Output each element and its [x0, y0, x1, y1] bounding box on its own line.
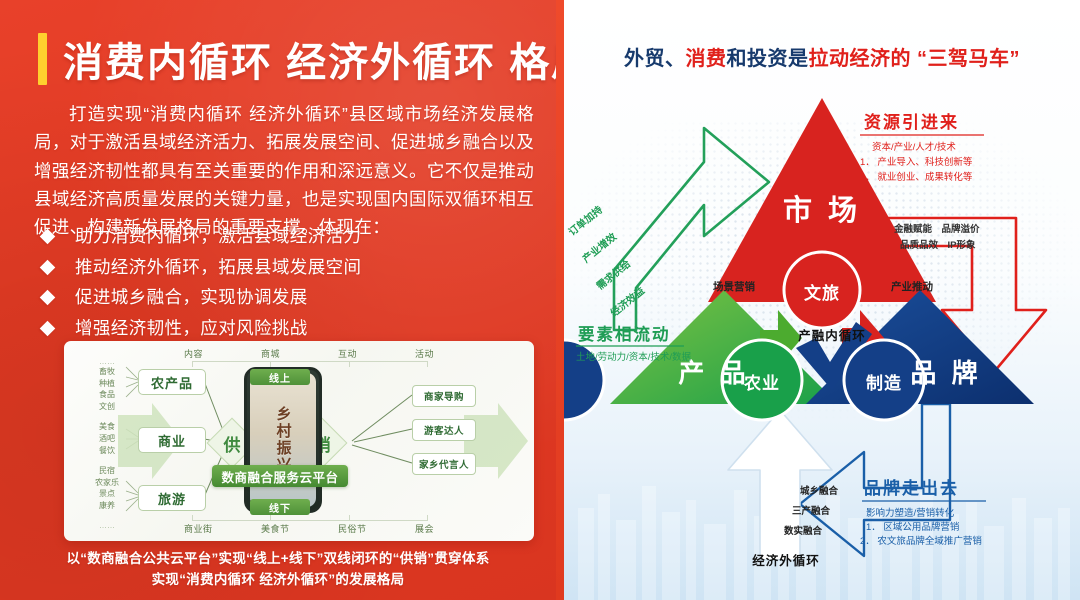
source-label: 种植 [88, 378, 126, 390]
diamond-bullet-icon [40, 320, 56, 336]
list-item: 增强经济韧性，应对风险挑战 [42, 320, 361, 338]
channel-label: 内容 [184, 347, 203, 360]
supply-label: 供 [224, 431, 241, 456]
brand-tag-3: 数实融合 [783, 525, 823, 537]
source-label: 美食 [88, 421, 126, 433]
channel-label: 美食节 [261, 522, 290, 535]
outer-cycle-arrow [728, 410, 832, 560]
resource-item-2: 2． 就业创业、成果转化等 [860, 171, 973, 183]
circle-label-agriculture: 农业 [743, 373, 780, 393]
diamond-bullet-icon [40, 259, 56, 275]
brand-block-subtitle: 影响力塑造/营销转化 [866, 507, 955, 519]
list-item: 推动经济外循环，拓展县域发展空间 [42, 259, 361, 277]
left-red-panel: 消费内循环 经济外循环 格局 打造实现“消费内循环 经济外循环”县区域市场经济发… [0, 0, 556, 600]
source-group-tourism: 民宿 农家乐 景点 康养 [88, 465, 126, 511]
outer-cycle-label: 经济外循环 [752, 553, 820, 568]
card-caption: 以“数商融合公共云平台”实现“线上+线下”双线闭环的“供销”贯穿体系 实现“消费… [0, 549, 556, 591]
triangle-label-brand: 品 牌 [910, 358, 981, 388]
caption-line-2: 实现“消费内循环 经济外循环”的发展格局 [0, 570, 556, 591]
channel-label: 活动 [415, 347, 434, 360]
right-diagram-panel: 外贸、消费和投资是拉动经济的 “三驾马车” [564, 0, 1080, 600]
source-label: 食品 [88, 389, 126, 401]
resource-block-subtitle: 资本/产业/人才/技术 [872, 141, 956, 153]
bullet-label: 增强经济韧性，应对风险挑战 [75, 320, 308, 338]
resource-tag-line-1: 金融赋能 品牌溢价 [893, 223, 980, 235]
online-channel-row: 内容 商城 互动 活动 [184, 347, 434, 360]
source-label: 农家乐 [88, 477, 126, 489]
triangle-label-market: 市 场 [783, 193, 861, 227]
brand-block-title: 品牌走出去 [864, 478, 959, 498]
three-horses-diagram: 市 场 产 品 品 牌 文旅 农业 制造 场景营销 产业推动 产融内循环 经济外… [564, 0, 1080, 600]
page-title: 消费内循环 经济外循环 格局 [38, 30, 556, 88]
channel-label: 商城 [261, 347, 280, 360]
output-box-hometown-ambassador: 家乡代言人 [412, 453, 476, 475]
resource-item-1: 1． 产业导入、科技创新等 [860, 156, 973, 168]
intro-paragraph: 打造实现“消费内循环 经济外循环”县区域市场经济发展格局，对于激活县域经济活力、… [34, 100, 534, 242]
bullet-label: 助力消费内循环，激活县域经济活力 [75, 228, 361, 246]
circle-label-manufacture: 制造 [866, 373, 902, 393]
bullet-label: 推动经济外循环，拓展县域发展空间 [75, 259, 361, 277]
brand-item-2: 2． 农文旅品牌全域推广营销 [860, 535, 982, 547]
resource-block-title: 资源引进来 [864, 112, 959, 132]
phone-slogan: 乡村振兴 [273, 406, 294, 474]
online-tag: 线上 [250, 369, 310, 385]
slide-root: 消费内循环 经济外循环 格局 打造实现“消费内循环 经济外循环”县区域市场经济发… [0, 0, 1080, 600]
resource-tag-line-2: 品质品效 IP形象 [900, 239, 976, 251]
brand-tag-2: 三产融合 [792, 505, 831, 517]
output-box-tourist-influencer: 游客达人 [412, 419, 476, 441]
heading-seg-2: 消费 [685, 48, 726, 70]
category-box-commerce: 商业 [138, 427, 206, 453]
source-label: 民宿 [88, 465, 126, 477]
offline-tag: 线下 [250, 499, 310, 515]
category-box-agriculture: 农产品 [138, 369, 206, 395]
edge-label-industry-drive: 产业推动 [891, 280, 933, 293]
brand-item-1: 1． 区域公用品牌营销 [866, 521, 960, 533]
output-box-merchant-guide: 商家导购 [412, 385, 476, 407]
channel-label: 商业街 [184, 522, 213, 535]
edge-label-scene-marketing: 场景营销 [713, 280, 755, 293]
source-group-business: 美食 酒吧 餐饮 [88, 421, 126, 456]
source-label: 餐饮 [88, 445, 126, 457]
heading-seg-1: 外贸、 [624, 48, 686, 70]
caption-line-1: 以“数商融合公共云平台”实现“线上+线下”双线闭环的“供销”贯穿体系 [0, 549, 556, 570]
brand-tag-1: 城乡融合 [800, 485, 839, 497]
channel-label: 民俗节 [338, 522, 367, 535]
bullet-label: 促进城乡融合，实现协调发展 [75, 289, 308, 307]
source-group-agri: 畜牧 种植 食品 文创 [88, 366, 126, 412]
supply-sales-diagram-card: 内容 商城 互动 活动 商业街 美食节 民俗节 展会 [64, 341, 534, 541]
source-label: 景点 [88, 488, 126, 500]
ellipsis-bottom: …… [88, 521, 126, 530]
ellipsis-top: …… [88, 357, 126, 366]
bottom-ticks [192, 515, 428, 521]
bullet-list: 助力消费内循环，激活县域经济活力 推动经济外循环，拓展县域发展空间 促进城乡融合… [42, 228, 361, 350]
source-keyword-column: …… 畜牧 种植 食品 文创 美食 酒吧 餐饮 民宿 农家乐 [88, 357, 126, 530]
source-label: 文创 [88, 401, 126, 413]
element-item-1: 订单加持 [566, 203, 605, 238]
channel-label: 互动 [338, 347, 357, 360]
phone-mockup: 乡村振兴 [244, 367, 322, 513]
center-cycle-label: 产融内循环 [798, 328, 866, 343]
heading-seg-4: 拉动经济的 “三驾马车” [808, 48, 1020, 70]
diamond-bullet-icon [40, 290, 56, 306]
source-label: 康养 [88, 500, 126, 512]
circle-label-culture-tourism: 文旅 [804, 283, 840, 303]
title-label: 消费内循环 经济外循环 格局 [63, 30, 556, 88]
panel-divider [556, 0, 564, 600]
platform-label: 数商融合服务云平台 [212, 465, 348, 487]
heading-seg-3: 和投资是 [726, 48, 808, 70]
title-accent-bar [38, 33, 47, 85]
source-label: 畜牧 [88, 366, 126, 378]
list-item: 促进城乡融合，实现协调发展 [42, 289, 361, 307]
right-panel-heading: 外贸、消费和投资是拉动经济的 “三驾马车” [564, 42, 1080, 71]
diamond-bullet-icon [40, 229, 56, 245]
source-label: 酒吧 [88, 433, 126, 445]
category-box-tourism: 旅游 [138, 485, 206, 511]
element-item-2: 产业增效 [580, 229, 620, 265]
list-item: 助力消费内循环，激活县域经济活力 [42, 228, 361, 246]
element-block-title: 要素相流动 [578, 324, 671, 344]
offline-channel-row: 商业街 美食节 民俗节 展会 [184, 522, 434, 535]
element-block-subtitle: 土地/劳动力/资本/技术/数据 [576, 351, 692, 363]
channel-label: 展会 [415, 522, 434, 535]
